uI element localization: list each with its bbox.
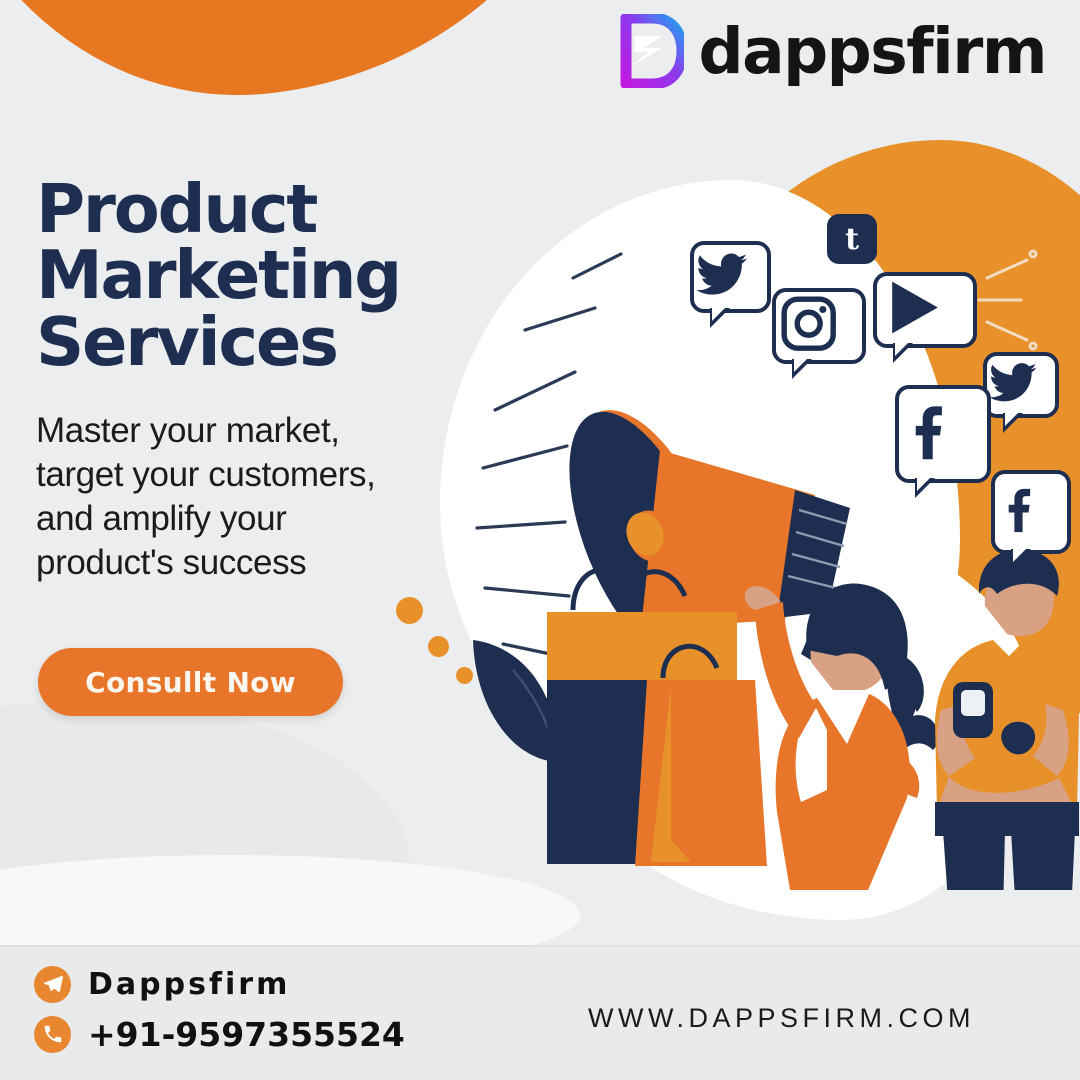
- facebook-icon: [899, 398, 987, 470]
- footer-divider: [0, 945, 1080, 947]
- copy-block: Product Marketing Services Master your m…: [36, 176, 506, 585]
- twitter-bubble-1: [690, 241, 771, 313]
- twitter-icon: [987, 357, 1055, 414]
- woman-with-megaphone: [745, 584, 939, 890]
- page-title: Product Marketing Services: [36, 176, 506, 375]
- man-with-phone: [935, 549, 1079, 890]
- subcopy-line-4: product's success: [36, 541, 506, 585]
- subcopy-line-3: and amplify your: [36, 497, 506, 541]
- phone-number: +91-9597355524: [88, 1015, 405, 1054]
- youtube-play-icon: [877, 271, 973, 349]
- footer-bar: Dappsfirm +91-9597355524 WWW.DAPPSFIRM.C…: [0, 945, 1080, 1080]
- accent-dot-medium: [428, 636, 449, 657]
- top-orange-blob: [0, 0, 660, 125]
- website-url[interactable]: WWW.DAPPSFIRM.COM: [588, 1003, 975, 1034]
- telegram-handle: Dappsfirm: [88, 967, 290, 1002]
- phone-contact[interactable]: +91-9597355524: [34, 1009, 405, 1059]
- consult-now-button[interactable]: Consullt Now: [38, 648, 343, 716]
- facebook-icon: [995, 482, 1067, 542]
- instagram-icon: [776, 291, 862, 361]
- brand-logo[interactable]: dappsfirm: [618, 14, 1046, 88]
- subcopy-line-2: target your customers,: [36, 453, 506, 497]
- headline-line-3: Services: [36, 309, 506, 375]
- marketing-banner: dappsfirm Product Marketing Services Mas…: [0, 0, 1080, 1080]
- facebook-bubble-2: [991, 470, 1071, 554]
- facebook-bubble-1: [895, 385, 991, 483]
- tumblr-badge-icon: t: [827, 214, 877, 264]
- subheading: Master your market, target your customer…: [36, 409, 506, 585]
- accent-dot-large: [396, 597, 423, 624]
- headline-line-1: Product: [36, 176, 506, 242]
- youtube-bubble: [873, 272, 977, 348]
- instagram-bubble: [772, 288, 866, 364]
- telegram-contact[interactable]: Dappsfirm: [34, 959, 405, 1009]
- headline-line-2: Marketing: [36, 242, 506, 308]
- telegram-icon: [34, 966, 71, 1003]
- twitter-bubble-2: [983, 352, 1059, 418]
- twitter-icon: [694, 247, 767, 307]
- dappsfirm-d-mark-icon: [618, 14, 684, 88]
- brand-logo-text: dappsfirm: [698, 20, 1046, 83]
- subcopy-line-1: Master your market,: [36, 409, 506, 453]
- phone-icon: [34, 1016, 71, 1053]
- contact-list: Dappsfirm +91-9597355524: [34, 959, 405, 1059]
